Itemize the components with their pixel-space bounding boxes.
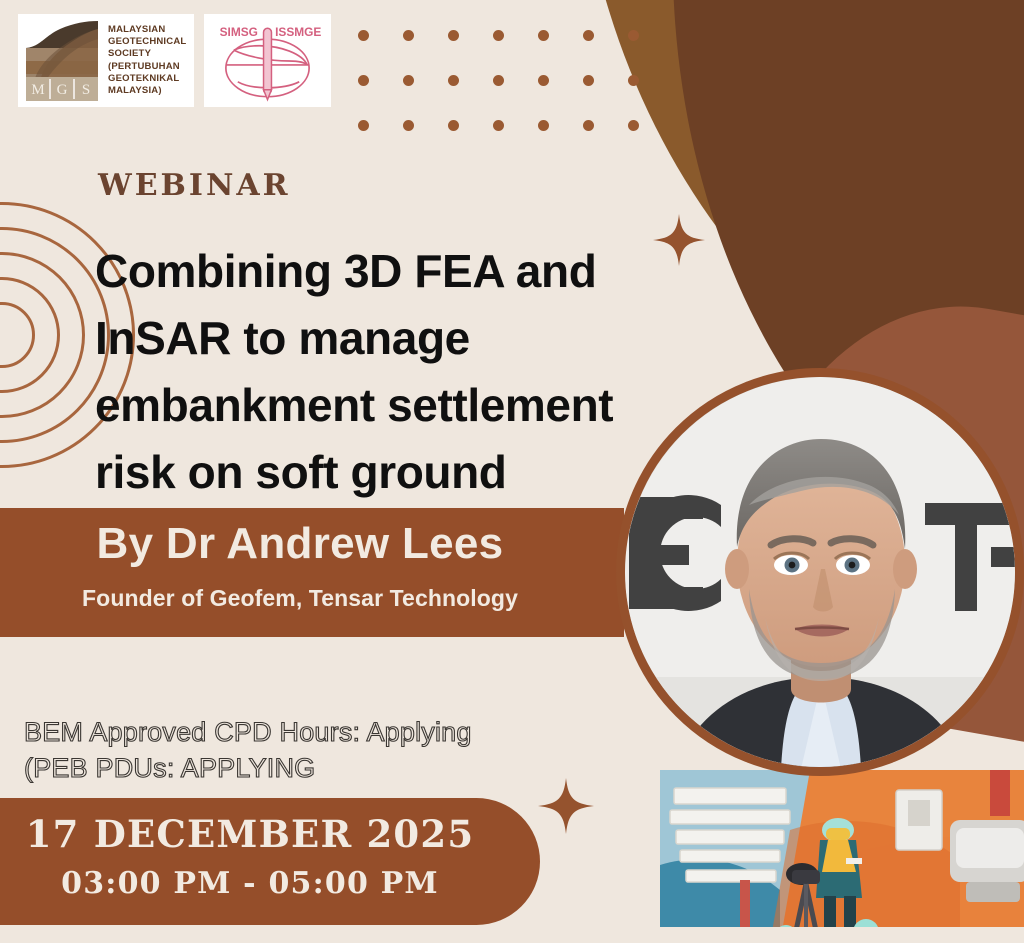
- svg-text:G: G: [57, 82, 68, 98]
- title-line-3: embankment settlement: [95, 372, 695, 439]
- speaker-photo: [616, 368, 1024, 776]
- mgs-line-2: GEOTECHNICAL: [108, 36, 186, 48]
- logo-row: M G S MALAYSIAN GEOTECHNICAL SOCIETY (PE…: [18, 14, 331, 107]
- accreditation-text: BEM Approved CPD Hours: Applying (PEB PD…: [24, 714, 472, 786]
- event-date: 17 DECEMBER 2025: [0, 812, 500, 856]
- page-title: Combining 3D FEA and InSAR to manage emb…: [95, 238, 695, 507]
- issmge-right-label: ISSMGE: [276, 25, 322, 39]
- construction-illustration: [660, 770, 1024, 943]
- title-line-2: InSAR to manage: [95, 305, 695, 372]
- speaker-role: Founder of Geofem, Tensar Technology: [0, 585, 600, 612]
- title-line-4: risk on soft ground: [95, 439, 695, 506]
- mgs-logo-text: MALAYSIAN GEOTECHNICAL SOCIETY (PERTUBUH…: [108, 24, 186, 97]
- sparkle-star-bottom-icon: [538, 778, 594, 834]
- issmge-globe-icon: SIMSG ISSMGE: [212, 20, 323, 102]
- speaker-name: By Dr Andrew Lees: [0, 519, 600, 569]
- title-line-1: Combining 3D FEA and: [95, 238, 695, 305]
- accreditation-line-2: (PEB PDUs: APPLYING: [24, 750, 472, 786]
- portrait-illustration: [625, 377, 1015, 767]
- issmge-left-label: SIMSG: [220, 25, 258, 39]
- mgs-line-4: (PERTUBUHAN: [108, 61, 186, 73]
- mgs-line-1: MALAYSIAN: [108, 24, 186, 36]
- webinar-kicker: WEBINAR: [98, 168, 291, 203]
- issmge-logo: SIMSG ISSMGE: [204, 14, 331, 107]
- mgs-line-3: SOCIETY: [108, 48, 186, 60]
- event-time: 03:00 PM - 05:00 PM: [0, 866, 500, 901]
- dot-grid-decoration: [358, 30, 673, 165]
- mgs-line-6: MALAYSIA): [108, 85, 186, 97]
- mgs-logo: M G S MALAYSIAN GEOTECHNICAL SOCIETY (PE…: [18, 14, 194, 107]
- mgs-strata-icon: M G S: [26, 21, 98, 101]
- webinar-poster: M G S MALAYSIAN GEOTECHNICAL SOCIETY (PE…: [0, 0, 1024, 943]
- bottom-edge-strip: [0, 927, 1024, 943]
- mgs-line-5: GEOTEKNIKAL: [108, 73, 186, 85]
- accreditation-line-1: BEM Approved CPD Hours: Applying: [24, 714, 472, 750]
- svg-text:S: S: [82, 82, 90, 98]
- svg-text:M: M: [31, 82, 44, 98]
- avatar: [625, 377, 1015, 767]
